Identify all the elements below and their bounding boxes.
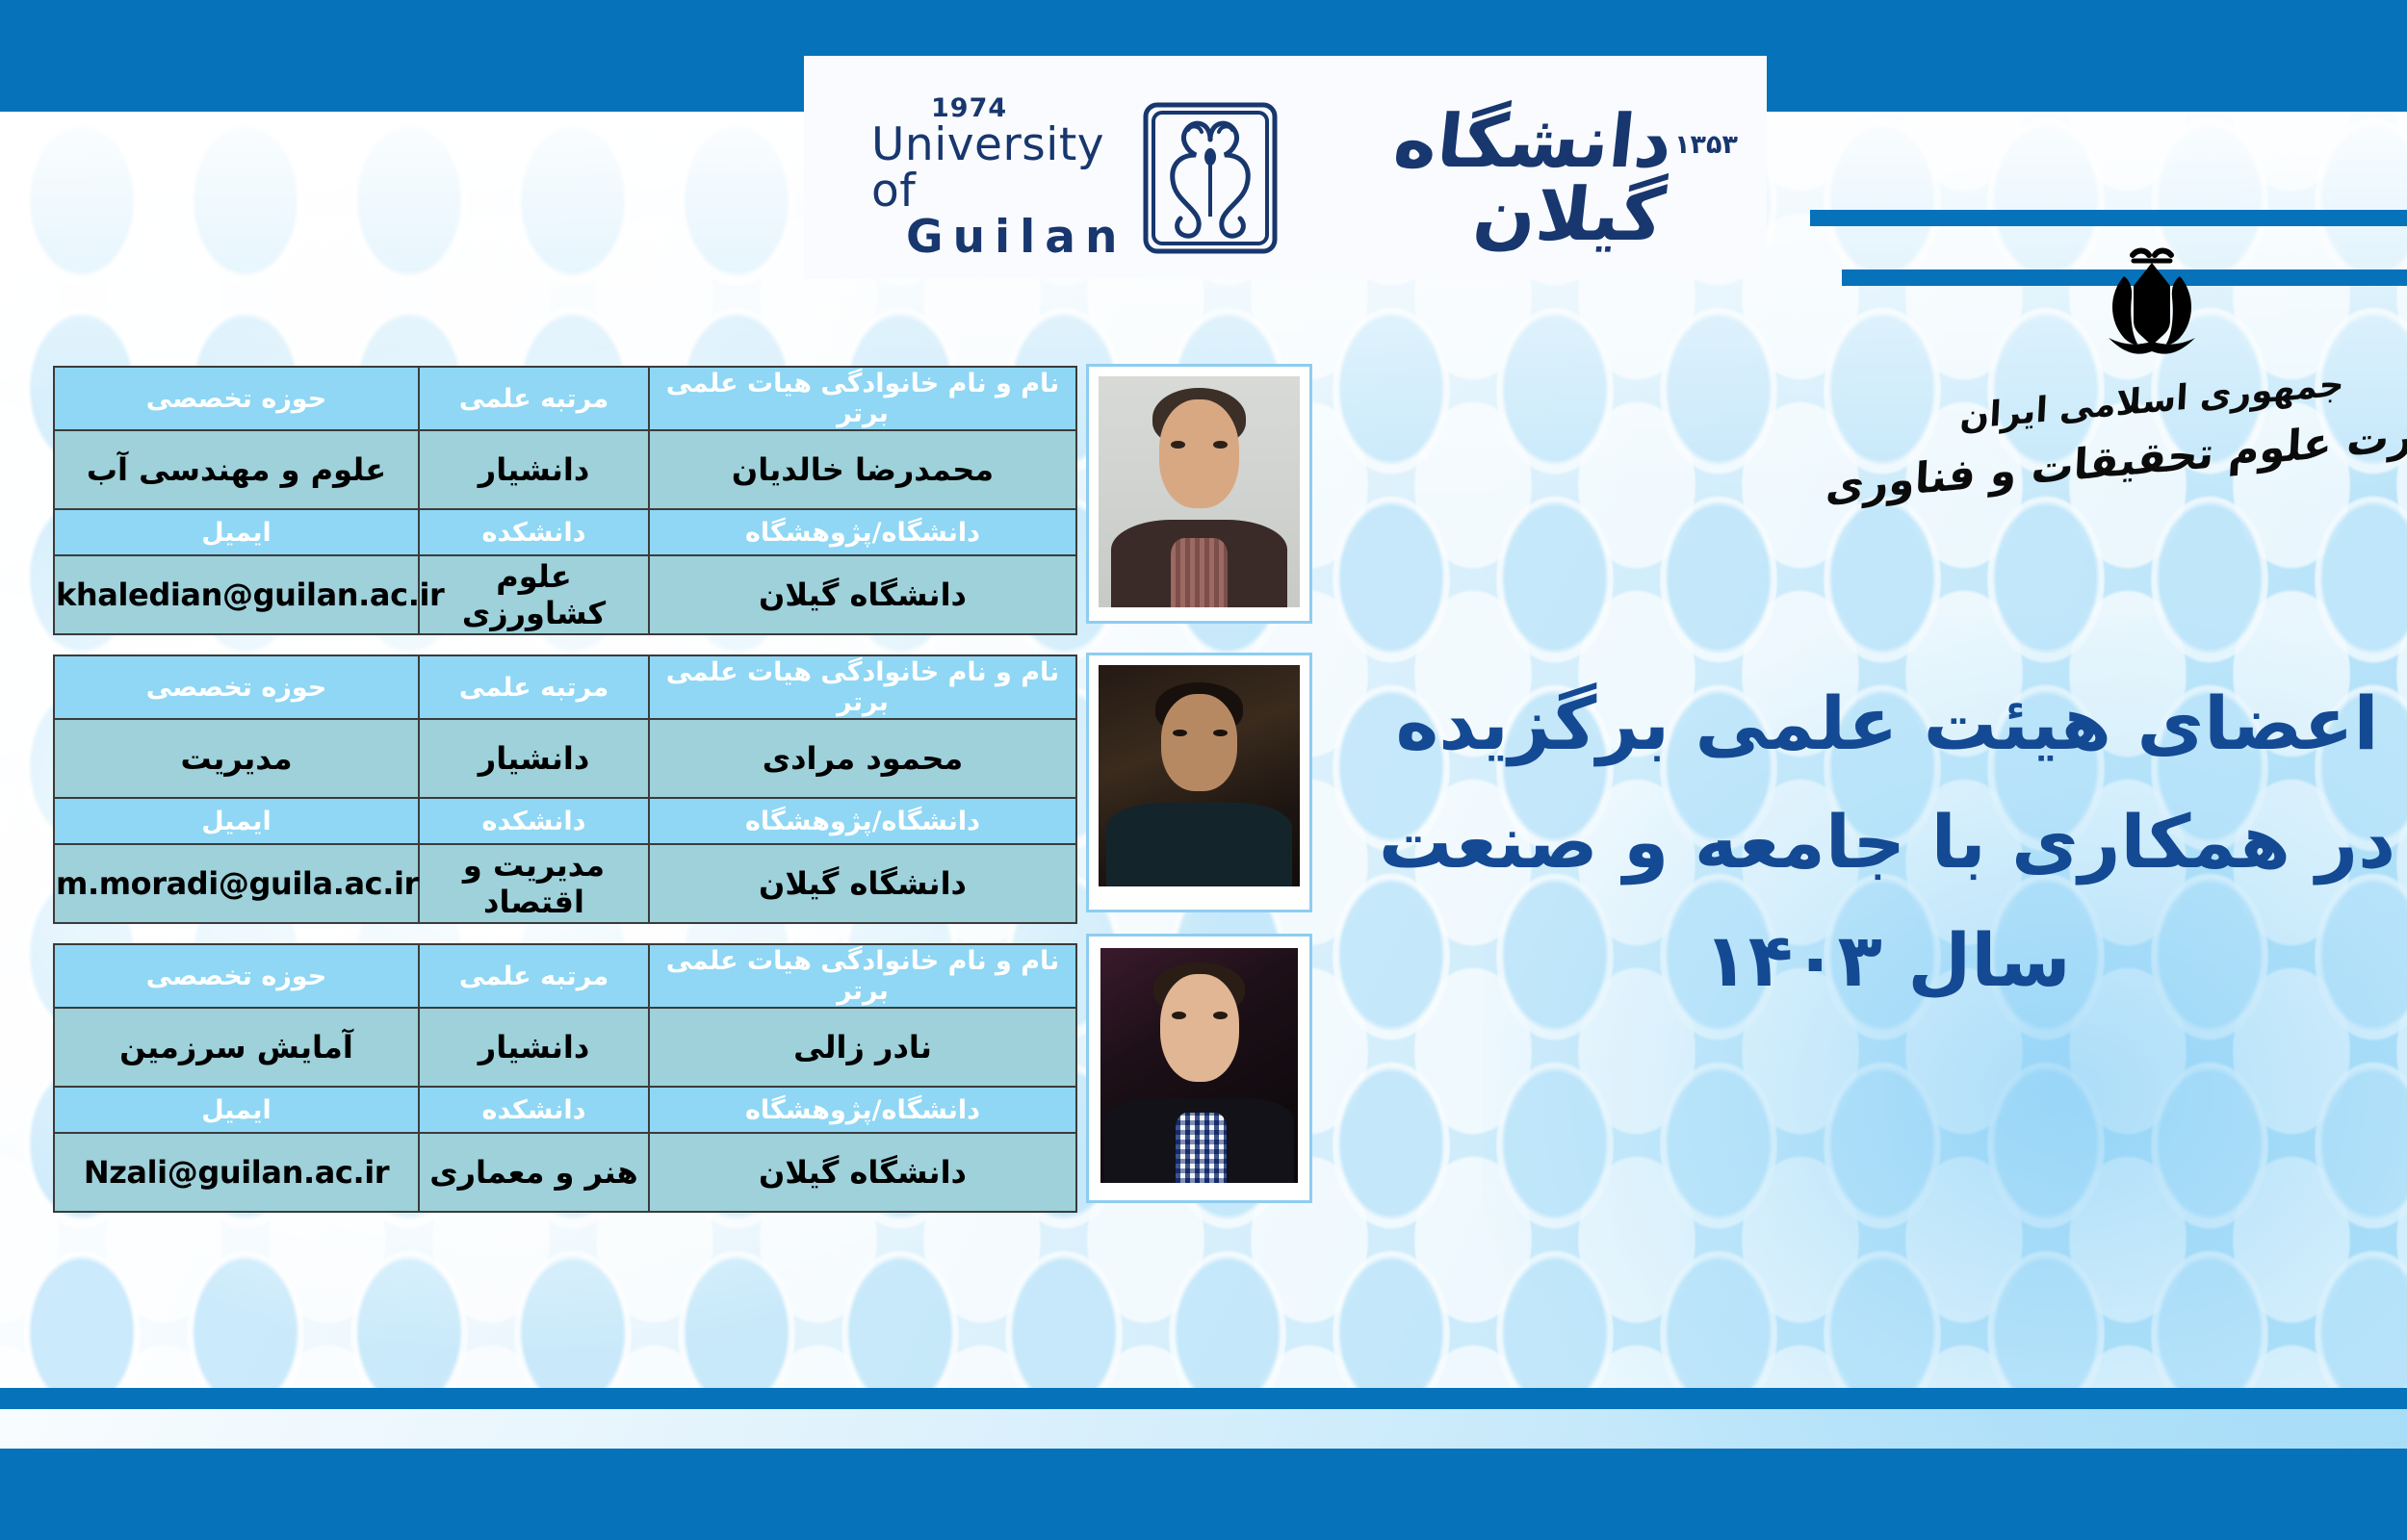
header-name: نام و نام خانوادگی هیات علمی برتر	[649, 944, 1076, 1008]
table-row: محمدرضا خالدیان دانشیار علوم و مهندسی آب	[54, 430, 1076, 509]
logo-line2-en: Guilan	[906, 215, 1126, 261]
value-college: مدیریت و اقتصاد	[419, 844, 649, 923]
portrait-image-3	[1100, 948, 1298, 1183]
faculty-photo-1	[1086, 364, 1312, 624]
footer-thin-bar	[0, 1388, 2407, 1409]
value-email[interactable]: khaledian@guilan.ac.ir	[54, 555, 419, 634]
table-header-row-2: دانشگاه/پژوهشگاه دانشکده ایمیل	[54, 798, 1076, 844]
header-name: نام و نام خانوادگی هیات علمی برتر	[649, 655, 1076, 719]
table-row: دانشگاه گیلان علوم کشاورزی khaledian@gui…	[54, 555, 1076, 634]
value-university: دانشگاه گیلان	[649, 844, 1076, 923]
logo-line1-en: University of	[871, 122, 1126, 215]
university-logo-persian: ۱۳۵۳ دانشگاه گیلان	[1296, 105, 1738, 251]
ministry-block: جمهوری اسلامی ایران وزارت علوم تحقیقات و…	[1902, 245, 2402, 563]
header-email: ایمیل	[54, 509, 419, 555]
header-college: دانشکده	[419, 509, 649, 555]
table-header-row: نام و نام خانوادگی هیات علمی برتر مرتبه …	[54, 367, 1076, 430]
value-college: هنر و معماری	[419, 1133, 649, 1212]
header-rank: مرتبه علمی	[419, 655, 649, 719]
faculty-table-1: نام و نام خانوادگی هیات علمی برتر مرتبه …	[53, 366, 1077, 635]
table-row: نادر زالی دانشیار آمایش سرزمین	[54, 1008, 1076, 1087]
value-email[interactable]: Nzali@guilan.ac.ir	[54, 1133, 419, 1212]
value-college: علوم کشاورزی	[419, 555, 649, 634]
faculty-photo-2	[1086, 653, 1312, 912]
table-header-row: نام و نام خانوادگی هیات علمی برتر مرتبه …	[54, 655, 1076, 719]
value-university: دانشگاه گیلان	[649, 555, 1076, 634]
table-row: دانشگاه گیلان مدیریت و اقتصاد m.moradi@g…	[54, 844, 1076, 923]
faculty-card-2: نام و نام خانوادگی هیات علمی برتر مرتبه …	[53, 654, 1077, 924]
poster-title-line2: در همکاری با جامعه و صنعت	[1377, 783, 2397, 901]
portrait-image-1	[1099, 376, 1300, 607]
header-college: دانشکده	[419, 798, 649, 844]
header-field: حوزه تخصصی	[54, 944, 419, 1008]
faculty-table-3: نام و نام خانوادگی هیات علمی برتر مرتبه …	[53, 943, 1077, 1213]
value-university: دانشگاه گیلان	[649, 1133, 1076, 1212]
header-rank: مرتبه علمی	[419, 944, 649, 1008]
value-name: محمود مرادی	[649, 719, 1076, 798]
poster-canvas: 1974 University of Guilan ۱۳۵۳ دانشگاه گ…	[0, 0, 2407, 1540]
value-email[interactable]: m.moradi@guila.ac.ir	[54, 844, 419, 923]
guilan-emblem-icon	[1138, 101, 1282, 255]
value-rank: دانشیار	[419, 430, 649, 509]
poster-title: اعضای هیئت علمی برگزیده در همکاری با جام…	[1377, 664, 2397, 1019]
header-name: نام و نام خانوادگی هیات علمی برتر	[649, 367, 1076, 430]
header-email: ایمیل	[54, 1087, 419, 1133]
value-field: علوم و مهندسی آب	[54, 430, 419, 509]
header-email: ایمیل	[54, 798, 419, 844]
accent-line-upper	[1810, 210, 2407, 226]
faculty-photo-3	[1086, 934, 1312, 1203]
table-row: دانشگاه گیلان هنر و معماری Nzali@guilan.…	[54, 1133, 1076, 1212]
header-university: دانشگاه/پژوهشگاه	[649, 798, 1076, 844]
header-field: حوزه تخصصی	[54, 655, 419, 719]
faculty-card-1: نام و نام خانوادگی هیات علمی برتر مرتبه …	[53, 366, 1077, 635]
header-university: دانشگاه/پژوهشگاه	[649, 509, 1076, 555]
poster-title-line3: سال ۱۴۰۳	[1377, 901, 2397, 1019]
university-logo: 1974 University of Guilan ۱۳۵۳ دانشگاه گ…	[871, 91, 1738, 265]
value-name: محمدرضا خالدیان	[649, 430, 1076, 509]
value-name: نادر زالی	[649, 1008, 1076, 1087]
logo-name-fa: دانشگاه گیلان	[1288, 105, 1676, 251]
value-rank: دانشیار	[419, 719, 649, 798]
header-field: حوزه تخصصی	[54, 367, 419, 430]
value-rank: دانشیار	[419, 1008, 649, 1087]
header-university: دانشگاه/پژوهشگاه	[649, 1087, 1076, 1133]
footer-thick-bar	[0, 1449, 2407, 1540]
iran-emblem-icon	[2080, 245, 2224, 375]
faculty-card-3: نام و نام خانوادگی هیات علمی برتر مرتبه …	[53, 943, 1077, 1213]
table-header-row-2: دانشگاه/پژوهشگاه دانشکده ایمیل	[54, 509, 1076, 555]
header-college: دانشکده	[419, 1087, 649, 1133]
portrait-image-2	[1099, 665, 1300, 886]
header-rank: مرتبه علمی	[419, 367, 649, 430]
table-row: محمود مرادی دانشیار مدیریت	[54, 719, 1076, 798]
logo-year-fa: ۱۳۵۳	[1674, 130, 1738, 160]
value-field: مدیریت	[54, 719, 419, 798]
table-header-row: نام و نام خانوادگی هیات علمی برتر مرتبه …	[54, 944, 1076, 1008]
value-field: آمایش سرزمین	[54, 1008, 419, 1087]
university-logo-english: 1974 University of Guilan	[871, 95, 1126, 260]
faculty-table-2: نام و نام خانوادگی هیات علمی برتر مرتبه …	[53, 654, 1077, 924]
table-header-row-2: دانشگاه/پژوهشگاه دانشکده ایمیل	[54, 1087, 1076, 1133]
poster-title-line1: اعضای هیئت علمی برگزیده	[1377, 664, 2397, 783]
